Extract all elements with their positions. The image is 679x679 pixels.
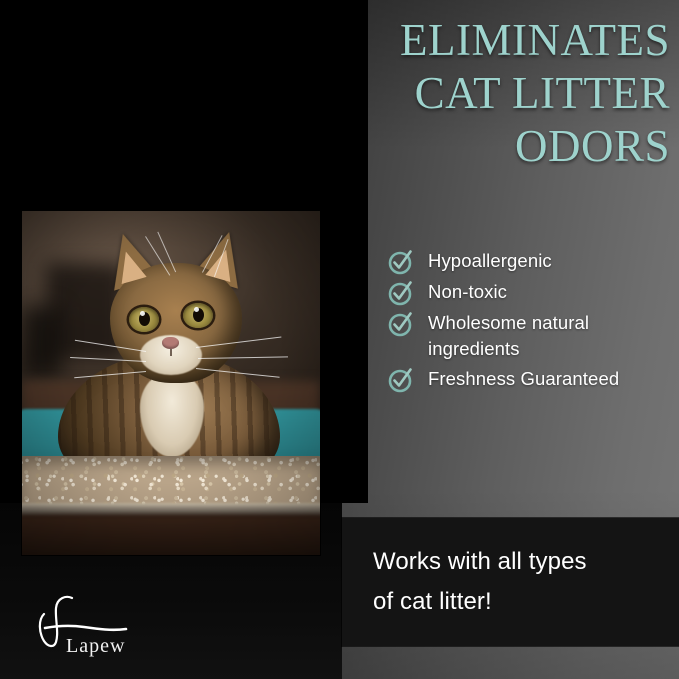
kitten-litter-box-photo bbox=[22, 211, 320, 555]
kitten-eye-gleam-right bbox=[194, 307, 199, 312]
benefit-label: Non-toxic bbox=[428, 279, 507, 305]
tagline-line-2: of cat litter! bbox=[373, 582, 587, 622]
headline: ELIMINATES CAT LITTER ODORS bbox=[250, 14, 670, 173]
headline-line-1: ELIMINATES bbox=[250, 14, 670, 67]
headline-line-3: ODORS bbox=[250, 120, 670, 173]
photo-background-blur-2 bbox=[22, 307, 62, 377]
benefit-label: Wholesome natural ingredients bbox=[428, 310, 674, 362]
check-circle-icon bbox=[388, 280, 414, 306]
benefit-label: Freshness Guaranteed bbox=[428, 366, 619, 392]
benefit-item: Non-toxic bbox=[388, 279, 674, 306]
tagline-banner: Works with all types of cat litter! bbox=[342, 518, 679, 646]
kitten-mouth bbox=[170, 349, 172, 356]
tagline-line-1: Works with all types bbox=[373, 542, 587, 582]
benefit-item: Hypoallergenic bbox=[388, 248, 674, 275]
kitten-nose bbox=[162, 337, 179, 349]
kitten-eye-gleam-left bbox=[140, 311, 145, 316]
brand-wordmark: Lapew bbox=[66, 635, 125, 658]
check-circle-icon bbox=[388, 367, 414, 393]
cat-litter-granules bbox=[22, 456, 320, 508]
check-circle-icon bbox=[388, 311, 414, 337]
check-circle-icon bbox=[388, 249, 414, 275]
benefits-list: Hypoallergenic Non-toxic Wholesome natur… bbox=[388, 248, 674, 397]
headline-line-2: CAT LITTER bbox=[250, 67, 670, 120]
brand-logo: Lapew bbox=[26, 592, 166, 664]
advertisement-image: ELIMINATES CAT LITTER ODORS bbox=[0, 0, 679, 679]
benefit-item: Freshness Guaranteed bbox=[388, 366, 674, 393]
tagline-text: Works with all types of cat litter! bbox=[342, 542, 597, 622]
photo-foreground-floor bbox=[22, 515, 320, 555]
benefit-item: Wholesome natural ingredients bbox=[388, 310, 674, 362]
benefit-label: Hypoallergenic bbox=[428, 248, 552, 274]
